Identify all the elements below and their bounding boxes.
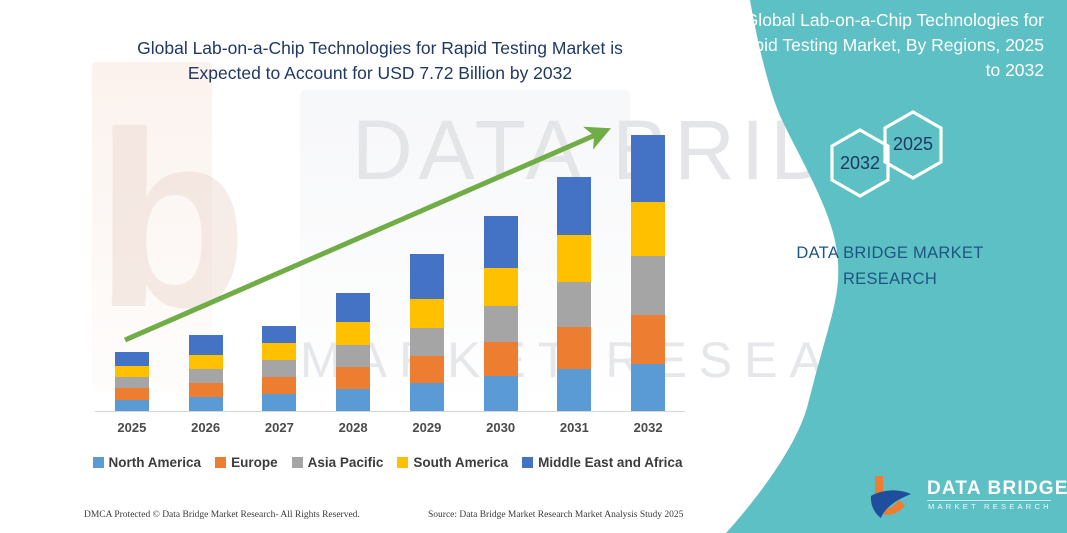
segment-asia-pacific bbox=[484, 306, 518, 342]
segment-europe bbox=[115, 388, 149, 400]
segment-middle-east-and-africa bbox=[262, 326, 296, 343]
segment-asia-pacific bbox=[631, 256, 665, 315]
legend-swatch-icon bbox=[292, 457, 303, 468]
bridge-mark-icon bbox=[865, 472, 921, 520]
bar-2030 bbox=[484, 216, 518, 411]
logo-subtitle: MARKET RESEARCH bbox=[928, 502, 1052, 511]
footer-source: Source: Data Bridge Market Research Mark… bbox=[428, 510, 683, 520]
panel-brand-text: DATA BRIDGE MARKET RESEARCH bbox=[770, 240, 1010, 292]
segment-europe bbox=[557, 327, 591, 369]
legend-item-middle-east-and-africa[interactable]: Middle East and Africa bbox=[522, 455, 682, 470]
legend-item-europe[interactable]: Europe bbox=[215, 455, 278, 470]
segment-north-america bbox=[336, 389, 370, 411]
segment-north-america bbox=[410, 383, 444, 411]
data-bridge-logo: DATA BRIDGE MARKET RESEARCH bbox=[865, 472, 1055, 524]
segment-south-america bbox=[484, 268, 518, 306]
legend-item-south-america[interactable]: South America bbox=[397, 455, 508, 470]
segment-middle-east-and-africa bbox=[631, 135, 665, 202]
bar-2026 bbox=[189, 335, 223, 411]
x-label-2032: 2032 bbox=[618, 420, 678, 435]
growth-trend-arrow bbox=[95, 120, 685, 415]
segment-europe bbox=[189, 383, 223, 397]
stacked-bar-chart bbox=[95, 120, 685, 415]
x-label-2031: 2031 bbox=[544, 420, 604, 435]
segment-middle-east-and-africa bbox=[410, 254, 444, 299]
legend-label: South America bbox=[413, 455, 508, 470]
x-label-2027: 2027 bbox=[249, 420, 309, 435]
bar-2032 bbox=[631, 135, 665, 411]
bar-2025 bbox=[115, 352, 149, 411]
legend-item-asia-pacific[interactable]: Asia Pacific bbox=[292, 455, 384, 470]
segment-asia-pacific bbox=[262, 360, 296, 377]
x-label-2028: 2028 bbox=[323, 420, 383, 435]
legend-swatch-icon bbox=[215, 457, 226, 468]
segment-south-america bbox=[262, 343, 296, 360]
legend-swatch-icon bbox=[522, 457, 533, 468]
footer: DMCA Protected © Data Bridge Market Rese… bbox=[0, 506, 700, 530]
logo-name: DATA BRIDGE bbox=[927, 478, 1067, 500]
x-label-2029: 2029 bbox=[397, 420, 457, 435]
footer-copyright: DMCA Protected © Data Bridge Market Rese… bbox=[84, 510, 360, 520]
plot-area bbox=[95, 120, 685, 412]
bar-2029 bbox=[410, 254, 444, 411]
legend-label: Asia Pacific bbox=[308, 455, 384, 470]
segment-north-america bbox=[484, 376, 518, 411]
x-label-2030: 2030 bbox=[471, 420, 531, 435]
legend-label: North America bbox=[109, 455, 202, 470]
segment-asia-pacific bbox=[557, 282, 591, 327]
bar-2028 bbox=[336, 293, 370, 411]
segment-middle-east-and-africa bbox=[484, 216, 518, 268]
legend-item-north-america[interactable]: North America bbox=[93, 455, 202, 470]
segment-middle-east-and-africa bbox=[189, 335, 223, 355]
segment-europe bbox=[631, 315, 665, 364]
segment-south-america bbox=[631, 202, 665, 256]
legend-label: Europe bbox=[231, 455, 278, 470]
bar-2031 bbox=[557, 177, 591, 411]
segment-north-america bbox=[189, 397, 223, 411]
hexagon-year-2025: 2025 bbox=[893, 134, 933, 155]
logo-divider bbox=[927, 500, 1051, 501]
segment-north-america bbox=[631, 364, 665, 411]
segment-europe bbox=[262, 377, 296, 394]
segment-asia-pacific bbox=[189, 369, 223, 383]
panel-brand-line2: RESEARCH bbox=[770, 266, 1010, 292]
segment-middle-east-and-africa bbox=[557, 177, 591, 235]
chart-legend: North AmericaEuropeAsia PacificSouth Ame… bbox=[95, 455, 680, 470]
legend-label: Middle East and Africa bbox=[538, 455, 682, 470]
segment-europe bbox=[484, 342, 518, 376]
segment-south-america bbox=[410, 299, 444, 328]
segment-middle-east-and-africa bbox=[115, 352, 149, 366]
segment-north-america bbox=[557, 369, 591, 411]
x-axis-labels: 20252026202720282029203020312032 bbox=[95, 420, 685, 442]
segment-south-america bbox=[557, 235, 591, 282]
year-hexagons: 2032 2025 bbox=[800, 108, 1000, 208]
hexagon-year-2032: 2032 bbox=[840, 153, 880, 174]
segment-north-america bbox=[262, 394, 296, 411]
segment-europe bbox=[336, 367, 370, 389]
segment-south-america bbox=[189, 355, 223, 369]
page-title: Global Lab-on-a-Chip Technologies for Ra… bbox=[100, 36, 660, 86]
legend-swatch-icon bbox=[397, 457, 408, 468]
x-label-2025: 2025 bbox=[102, 420, 162, 435]
segment-south-america bbox=[115, 366, 149, 377]
segment-asia-pacific bbox=[410, 328, 444, 356]
x-axis-line bbox=[95, 411, 685, 412]
bar-2027 bbox=[262, 326, 296, 411]
segment-south-america bbox=[336, 322, 370, 345]
panel-title: Global Lab-on-a-Chip Technologies for Ra… bbox=[732, 8, 1044, 83]
segment-asia-pacific bbox=[115, 377, 149, 388]
infographic-page: b DATA BRIDGE MARKET RESEARCH Global Lab… bbox=[0, 0, 1067, 533]
segment-north-america bbox=[115, 400, 149, 411]
hexagon-outlines bbox=[800, 108, 1000, 208]
x-label-2026: 2026 bbox=[176, 420, 236, 435]
panel-brand-line1: DATA BRIDGE MARKET bbox=[770, 240, 1010, 266]
segment-middle-east-and-africa bbox=[336, 293, 370, 322]
segment-europe bbox=[410, 356, 444, 383]
legend-swatch-icon bbox=[93, 457, 104, 468]
right-side-panel: Global Lab-on-a-Chip Technologies for Ra… bbox=[690, 0, 1067, 533]
segment-asia-pacific bbox=[336, 345, 370, 367]
